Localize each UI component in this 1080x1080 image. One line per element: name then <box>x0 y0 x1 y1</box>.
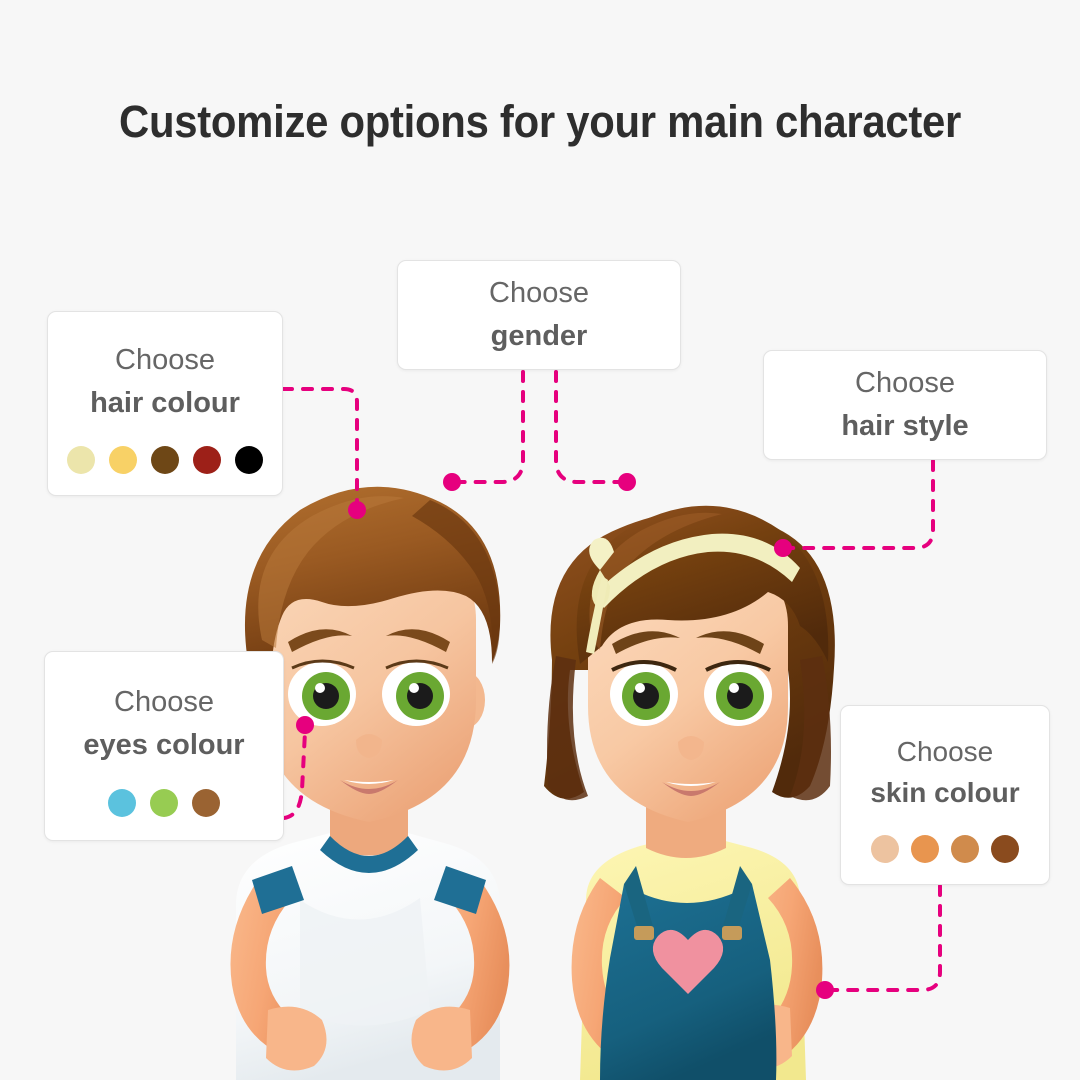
customization-screen: Customize options for your main characte… <box>0 0 1080 1080</box>
card-skin-colour-line1: Choose <box>870 731 1019 772</box>
eyes-colour-swatch-list <box>108 789 220 817</box>
card-hair-colour-line2: hair colour <box>90 382 240 425</box>
card-hair-style-label: Choose hair style <box>841 362 968 447</box>
card-gender-line1: Choose <box>489 272 589 315</box>
eyes-colour-swatch-blue[interactable] <box>108 789 136 817</box>
skin-colour-swatch-medium-light[interactable] <box>911 835 939 863</box>
hair-colour-swatch-pale-blonde[interactable] <box>67 446 95 474</box>
hair-colour-swatch-black[interactable] <box>235 446 263 474</box>
card-hair-style-line2: hair style <box>841 405 968 448</box>
card-eyes-colour-label: Choose eyes colour <box>83 681 244 766</box>
card-hair-colour[interactable]: Choose hair colour <box>47 311 283 496</box>
skin-colour-swatch-medium[interactable] <box>951 835 979 863</box>
card-skin-colour-line2: skin colour <box>870 772 1019 813</box>
card-hair-style[interactable]: Choose hair style <box>763 350 1047 460</box>
card-eyes-colour-line1: Choose <box>83 681 244 724</box>
card-gender-line2: gender <box>489 315 589 358</box>
hair-colour-swatch-golden-blonde[interactable] <box>109 446 137 474</box>
card-gender[interactable]: Choose gender <box>397 260 681 370</box>
hair-colour-swatch-brown[interactable] <box>151 446 179 474</box>
card-eyes-colour-line2: eyes colour <box>83 724 244 767</box>
skin-colour-swatch-light[interactable] <box>871 835 899 863</box>
skin-colour-swatch-dark[interactable] <box>991 835 1019 863</box>
eyes-colour-swatch-brown[interactable] <box>192 789 220 817</box>
card-skin-colour-label: Choose skin colour <box>870 731 1019 813</box>
card-hair-colour-line1: Choose <box>90 339 240 382</box>
hair-colour-swatch-list <box>67 446 263 474</box>
card-skin-colour[interactable]: Choose skin colour <box>840 705 1050 885</box>
card-gender-label: Choose gender <box>489 272 589 357</box>
eyes-colour-swatch-green[interactable] <box>150 789 178 817</box>
skin-colour-swatch-list <box>871 835 1019 863</box>
card-hair-style-line1: Choose <box>841 362 968 405</box>
girl-character <box>544 506 835 1080</box>
card-eyes-colour[interactable]: Choose eyes colour <box>44 651 284 841</box>
card-hair-colour-label: Choose hair colour <box>90 339 240 424</box>
hair-colour-swatch-auburn-red[interactable] <box>193 446 221 474</box>
character-illustration <box>0 0 1080 1080</box>
